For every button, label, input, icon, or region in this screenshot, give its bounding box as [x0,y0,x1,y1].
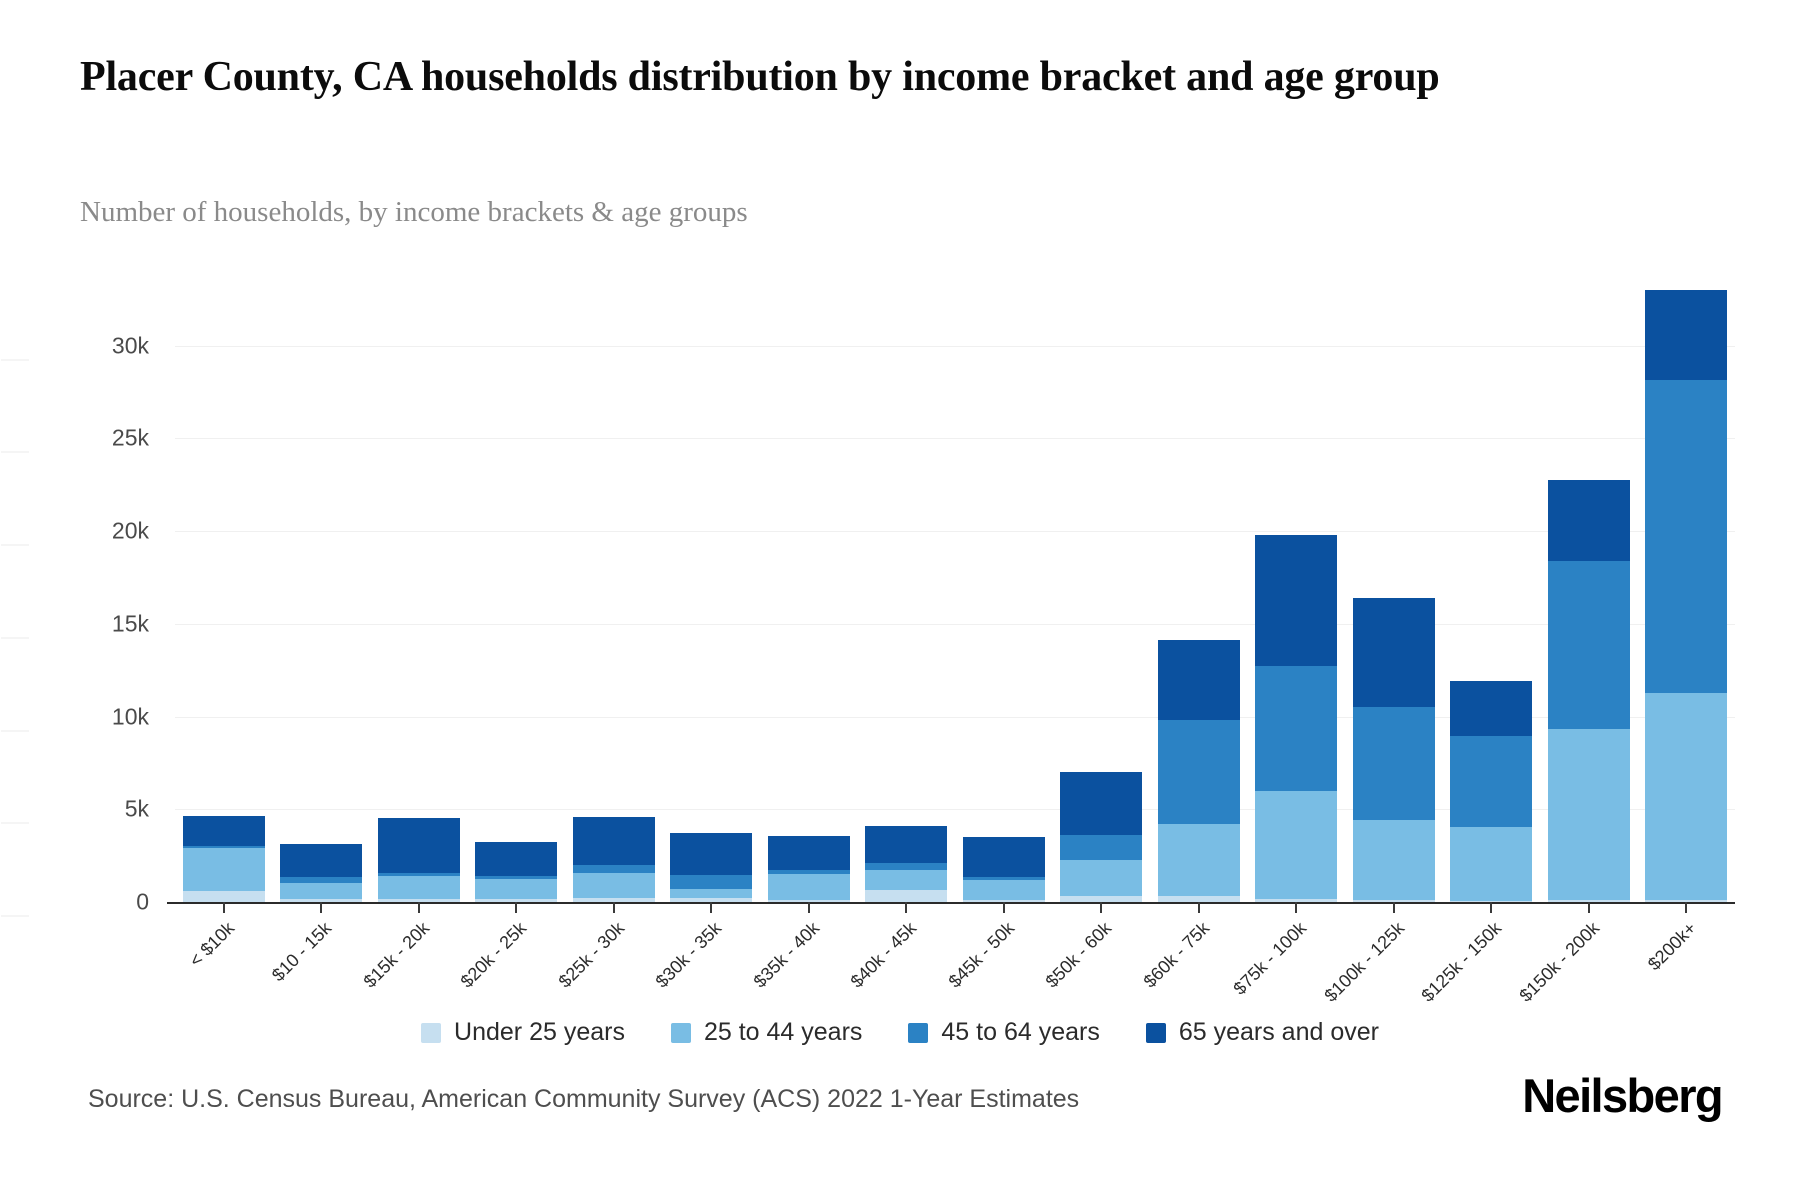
source-note: Source: U.S. Census Bureau, American Com… [88,1085,1079,1114]
legend-swatch-icon [1146,1023,1166,1043]
bar-segment[interactable] [865,826,947,863]
bar-segment[interactable] [963,880,1045,899]
y-axis-tick-mark [1,730,29,731]
bar-segment[interactable] [1158,640,1240,721]
bar-segment[interactable] [573,817,655,865]
legend-swatch-icon [908,1023,928,1043]
bar-series-group [175,290,1735,902]
bar-stack[interactable] [963,837,1045,902]
x-axis-tick-mark [905,902,907,913]
legend-item[interactable]: Under 25 years [421,1018,625,1047]
y-axis-tick-mark [1,823,29,824]
legend-item[interactable]: 25 to 44 years [671,1018,862,1047]
x-axis-tick-mark [1393,902,1395,913]
bar-stack[interactable] [1450,681,1532,902]
bar-segment[interactable] [573,873,655,898]
bar-stack[interactable] [1353,598,1435,902]
chart-legend: Under 25 years25 to 44 years45 to 64 yea… [0,1018,1800,1047]
x-axis-tick-mark [320,902,322,913]
x-axis-tick-mark [418,902,420,913]
chart-page: Placer County, CA households distributio… [0,0,1800,1200]
bar-segment[interactable] [183,891,265,902]
bar-stack[interactable] [1060,772,1142,902]
bar-segment[interactable] [670,875,752,889]
y-axis-tick-mark [1,916,29,917]
bar-segment[interactable] [1255,535,1337,667]
bar-segment[interactable] [280,844,362,877]
legend-item[interactable]: 65 years and over [1146,1018,1379,1047]
bar-segment[interactable] [183,816,265,846]
bar-stack[interactable] [1645,290,1727,902]
bar-segment[interactable] [865,890,947,902]
bar-segment[interactable] [1645,380,1727,693]
bar-segment[interactable] [1060,860,1142,895]
bar-stack[interactable] [670,833,752,902]
x-axis-tick-mark [515,902,517,913]
x-axis-tick-mark [613,902,615,913]
bar-segment[interactable] [1548,480,1630,561]
bar-segment[interactable] [670,889,752,898]
bar-segment[interactable] [1548,561,1630,730]
bar-stack[interactable] [865,826,947,902]
bar-segment[interactable] [1255,791,1337,899]
bar-stack[interactable] [378,818,460,902]
bar-segment[interactable] [1450,827,1532,900]
x-axis-tick-mark [1003,902,1005,913]
bar-segment[interactable] [768,836,850,870]
x-axis-tick-mark [710,902,712,913]
y-axis-tick-label: 0 [29,889,149,916]
bar-segment[interactable] [1645,693,1727,900]
bar-segment[interactable] [1060,835,1142,860]
y-axis-tick-mark [1,545,29,546]
bar-segment[interactable] [963,837,1045,876]
page-subtitle: Number of households, by income brackets… [80,195,1480,230]
x-axis-line [167,902,1735,904]
y-axis-tick-mark [1,637,29,638]
y-axis-tick-label: 30k [29,332,149,359]
bar-stack[interactable] [183,816,265,902]
bar-segment[interactable] [573,865,655,874]
legend-label: Under 25 years [454,1018,625,1047]
legend-swatch-icon [421,1023,441,1043]
page-title: Placer County, CA households distributio… [80,52,1640,103]
bar-segment[interactable] [280,883,362,899]
legend-label: 65 years and over [1179,1018,1379,1047]
plot-area: 05k10k15k20k25k30k < $10k$10 - 15k$15k -… [175,290,1735,902]
bar-segment[interactable] [475,879,557,898]
bar-segment[interactable] [1060,772,1142,835]
bar-stack[interactable] [280,844,362,902]
bar-stack[interactable] [1158,640,1240,902]
bar-stack[interactable] [475,842,557,902]
bar-segment[interactable] [1158,720,1240,824]
bar-segment[interactable] [378,876,460,898]
bar-segment[interactable] [1548,729,1630,900]
y-axis-tick-label: 20k [29,518,149,545]
bar-stack[interactable] [1255,535,1337,902]
bar-segment[interactable] [475,842,557,876]
bar-segment[interactable] [865,863,947,870]
bar-stack[interactable] [768,836,850,902]
y-axis-tick-label: 15k [29,610,149,637]
x-axis-tick-mark [223,902,225,913]
x-axis-tick-mark [1198,902,1200,913]
bar-segment[interactable] [865,870,947,890]
legend-label: 45 to 64 years [941,1018,1099,1047]
x-axis-tick-mark [1588,902,1590,913]
x-axis-tick-mark [1685,902,1687,913]
bar-segment[interactable] [1353,598,1435,706]
bar-segment[interactable] [1450,736,1532,827]
bar-segment[interactable] [1645,290,1727,380]
bar-segment[interactable] [670,833,752,875]
x-axis-tick-mark [808,902,810,913]
bar-stack[interactable] [573,817,655,902]
y-axis-tick-mark [1,452,29,453]
bar-segment[interactable] [768,874,850,899]
bar-segment[interactable] [1450,681,1532,737]
bar-segment[interactable] [183,848,265,891]
y-axis-tick-label: 5k [29,796,149,823]
bar-segment[interactable] [378,818,460,873]
x-axis-tick-mark [1295,902,1297,913]
x-axis-tick-mark [1490,902,1492,913]
bar-stack[interactable] [1548,480,1630,902]
y-axis-tick-label: 10k [29,703,149,730]
legend-item[interactable]: 45 to 64 years [908,1018,1099,1047]
x-axis-tick-mark [1100,902,1102,913]
bar-segment[interactable] [1158,824,1240,896]
legend-swatch-icon [671,1023,691,1043]
bar-segment[interactable] [1353,707,1435,820]
y-axis-tick-label: 25k [29,425,149,452]
legend-label: 25 to 44 years [704,1018,862,1047]
y-axis-tick-mark [1,359,29,360]
bar-segment[interactable] [1353,820,1435,901]
brand-logo: Neilsberg [1522,1068,1722,1123]
bar-segment[interactable] [1255,666,1337,790]
